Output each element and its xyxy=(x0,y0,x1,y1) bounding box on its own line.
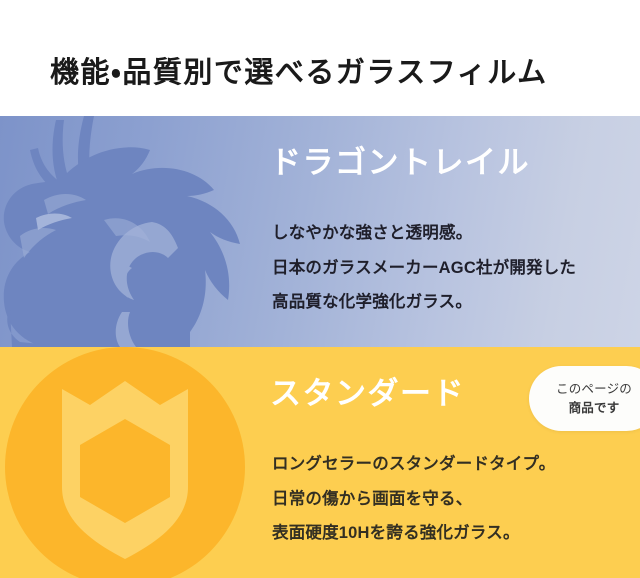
section-dragontrail[interactable]: ドラゴントレイル しなやかな強さと透明感。 日本のガラスメーカーAGC社が開発し… xyxy=(0,116,640,347)
glass-film-comparison-banner: 機能・品質別で選べるガラスフィルム xyxy=(0,0,640,578)
description-line: 日常の傷から画面を守る、 xyxy=(272,482,640,517)
header: 機能・品質別で選べるガラスフィルム xyxy=(0,0,640,116)
current-page-badge: このページの 商品です xyxy=(529,366,640,431)
description-line: しなやかな強さと透明感。 xyxy=(272,216,640,251)
shield-hexagon-emblem xyxy=(0,347,275,578)
section-description-standard: ロングセラーのスタンダードタイプ。 日常の傷から画面を守る、 表面硬度10Hを誇… xyxy=(272,447,640,551)
description-line: 表面硬度10Hを誇る強化ガラス。 xyxy=(272,516,640,551)
badge-line-2: 商品です xyxy=(569,399,620,418)
section-description-dragontrail: しなやかな強さと透明感。 日本のガラスメーカーAGC社が開発した 高品質な化学強… xyxy=(272,216,640,320)
description-line: 高品質な化学強化ガラス。 xyxy=(272,285,640,320)
page-title: 機能・品質別で選べるガラスフィルム xyxy=(50,56,548,90)
section-title-standard: スタンダード xyxy=(270,375,465,413)
description-line: ロングセラーのスタンダードタイプ。 xyxy=(272,447,640,482)
badge-line-1: このページの xyxy=(556,380,632,399)
section-body-dragontrail: ドラゴントレイル しなやかな強さと透明感。 日本のガラスメーカーAGC社が開発し… xyxy=(270,116,640,347)
description-line: 日本のガラスメーカーAGC社が開発した xyxy=(272,251,640,286)
section-title-dragontrail: ドラゴントレイル xyxy=(270,144,530,182)
dragon-head-illustration xyxy=(0,116,275,347)
